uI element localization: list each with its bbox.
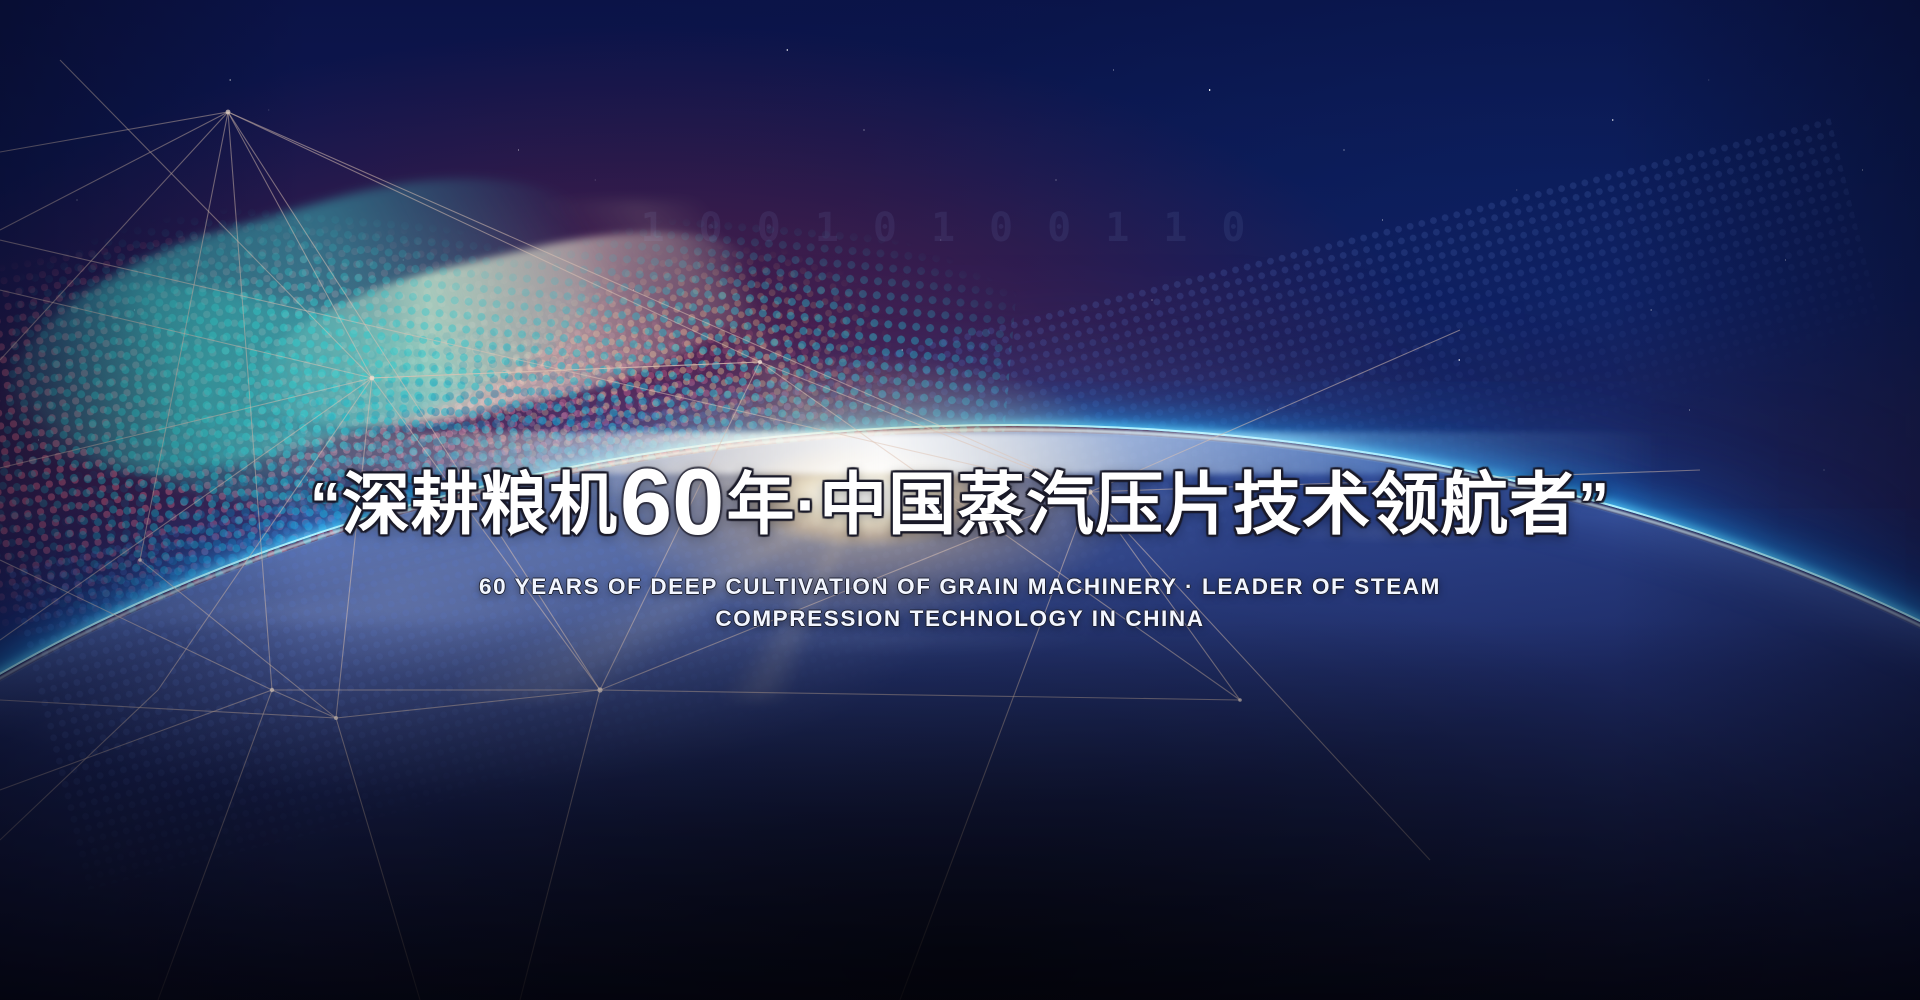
subtitle-line-2: COMPRESSION TECHNOLOGY IN CHINA	[0, 603, 1920, 635]
page-subtitle: 60 YEARS OF DEEP CULTIVATION OF GRAIN MA…	[0, 571, 1920, 635]
headline-anniversary-number: 60	[618, 449, 727, 554]
headline-part-1: 深耕粮机	[342, 467, 618, 543]
open-quote-mark: “	[310, 471, 342, 540]
page-title: “深耕粮机60年·中国蒸汽压片技术领航者”	[310, 455, 1610, 549]
headline-part-2: 年·中国蒸汽压片技术领航者	[726, 467, 1578, 543]
hero-text-block: “深耕粮机60年·中国蒸汽压片技术领航者” 60 YEARS OF DEEP C…	[0, 455, 1920, 635]
hero-banner: 10010100110	[0, 0, 1920, 1000]
golden-wave-crest	[240, 198, 780, 461]
close-quote-mark: ”	[1578, 471, 1610, 540]
subtitle-line-1: 60 YEARS OF DEEP CULTIVATION OF GRAIN MA…	[0, 571, 1920, 603]
atmosphere-streaks	[0, 0, 912, 292]
